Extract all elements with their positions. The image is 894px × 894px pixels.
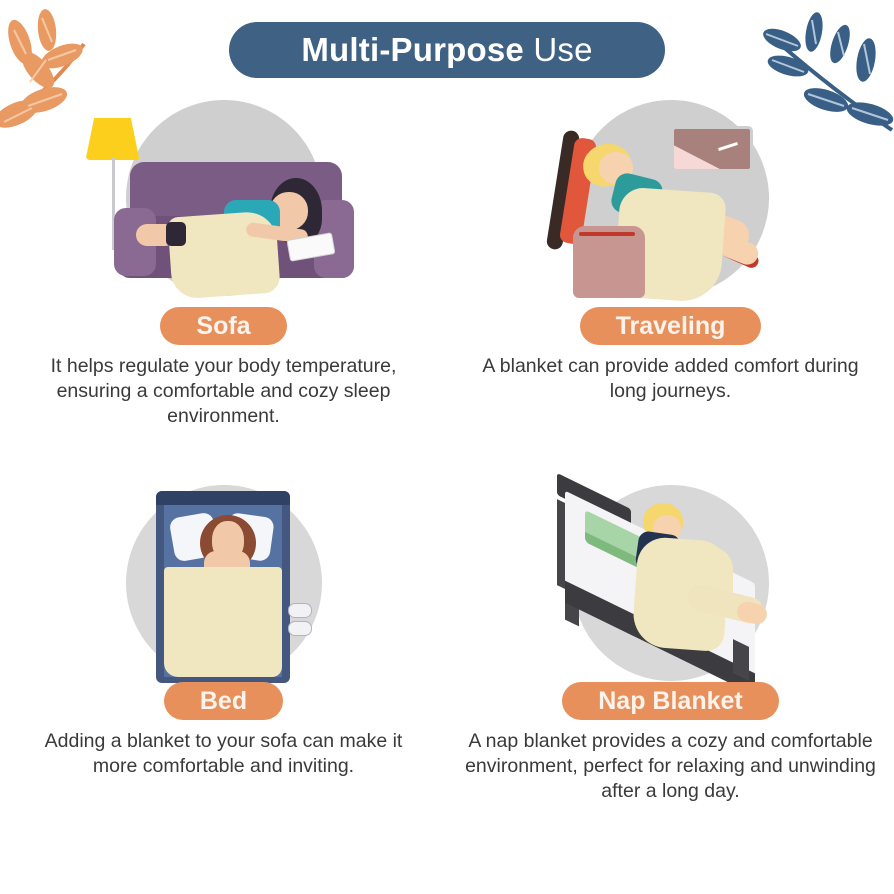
- slipper-shape: [288, 603, 312, 618]
- nap-blanket-illustration: [521, 481, 821, 686]
- feature-description-nap-blanket: A nap blanket provides a cozy and comfor…: [461, 729, 881, 804]
- page-title-banner: Multi-Purpose Use: [229, 22, 665, 78]
- page-title-light: Use: [533, 31, 592, 68]
- lamp-shade-shape: [86, 118, 140, 160]
- feature-card-sofa: Sofa It helps regulate your body tempera…: [0, 96, 447, 429]
- feature-label-pill-nap-blanket: Nap Blanket: [562, 682, 778, 720]
- feature-label-pill-sofa: Sofa: [160, 307, 286, 345]
- sofa-illustration: [74, 96, 374, 311]
- feature-label-pill-traveling: Traveling: [580, 307, 762, 345]
- traveling-illustration: [521, 96, 821, 311]
- woman-sock-shape: [166, 222, 186, 246]
- feature-row-top: Sofa It helps regulate your body tempera…: [0, 96, 894, 429]
- feature-description-traveling: A blanket can provide added comfort duri…: [471, 354, 871, 404]
- page-title: Multi-Purpose Use: [301, 31, 592, 69]
- slipper-shape: [288, 621, 312, 636]
- feature-description-sofa: It helps regulate your body temperature,…: [24, 354, 424, 429]
- feature-description-bed: Adding a blanket to your sofa can make i…: [24, 729, 424, 779]
- page-title-strong: Multi-Purpose: [301, 31, 524, 68]
- bed-headboard-shape: [156, 491, 290, 505]
- feature-label-nap-blanket: Nap Blanket: [598, 687, 742, 716]
- plane-streak-shape: [718, 142, 738, 151]
- airplane-window-shape: [671, 126, 753, 172]
- feature-row-bottom: Bed Adding a blanket to your sofa can ma…: [0, 481, 894, 804]
- feature-label-pill-bed: Bed: [164, 682, 283, 720]
- seat-base-shape: [573, 226, 645, 298]
- feature-card-bed: Bed Adding a blanket to your sofa can ma…: [0, 481, 447, 804]
- feature-label-bed: Bed: [200, 687, 247, 716]
- blanket-shape: [164, 567, 282, 677]
- feature-grid: Sofa It helps regulate your body tempera…: [0, 96, 894, 804]
- feature-label-traveling: Traveling: [616, 312, 726, 341]
- feature-card-nap-blanket: Nap Blanket A nap blanket provides a coz…: [447, 481, 894, 804]
- bed-illustration: [74, 481, 374, 686]
- seat-arm-line-shape: [579, 232, 635, 236]
- feature-card-traveling: Traveling A blanket can provide added co…: [447, 96, 894, 429]
- feature-label-sofa: Sofa: [196, 312, 250, 341]
